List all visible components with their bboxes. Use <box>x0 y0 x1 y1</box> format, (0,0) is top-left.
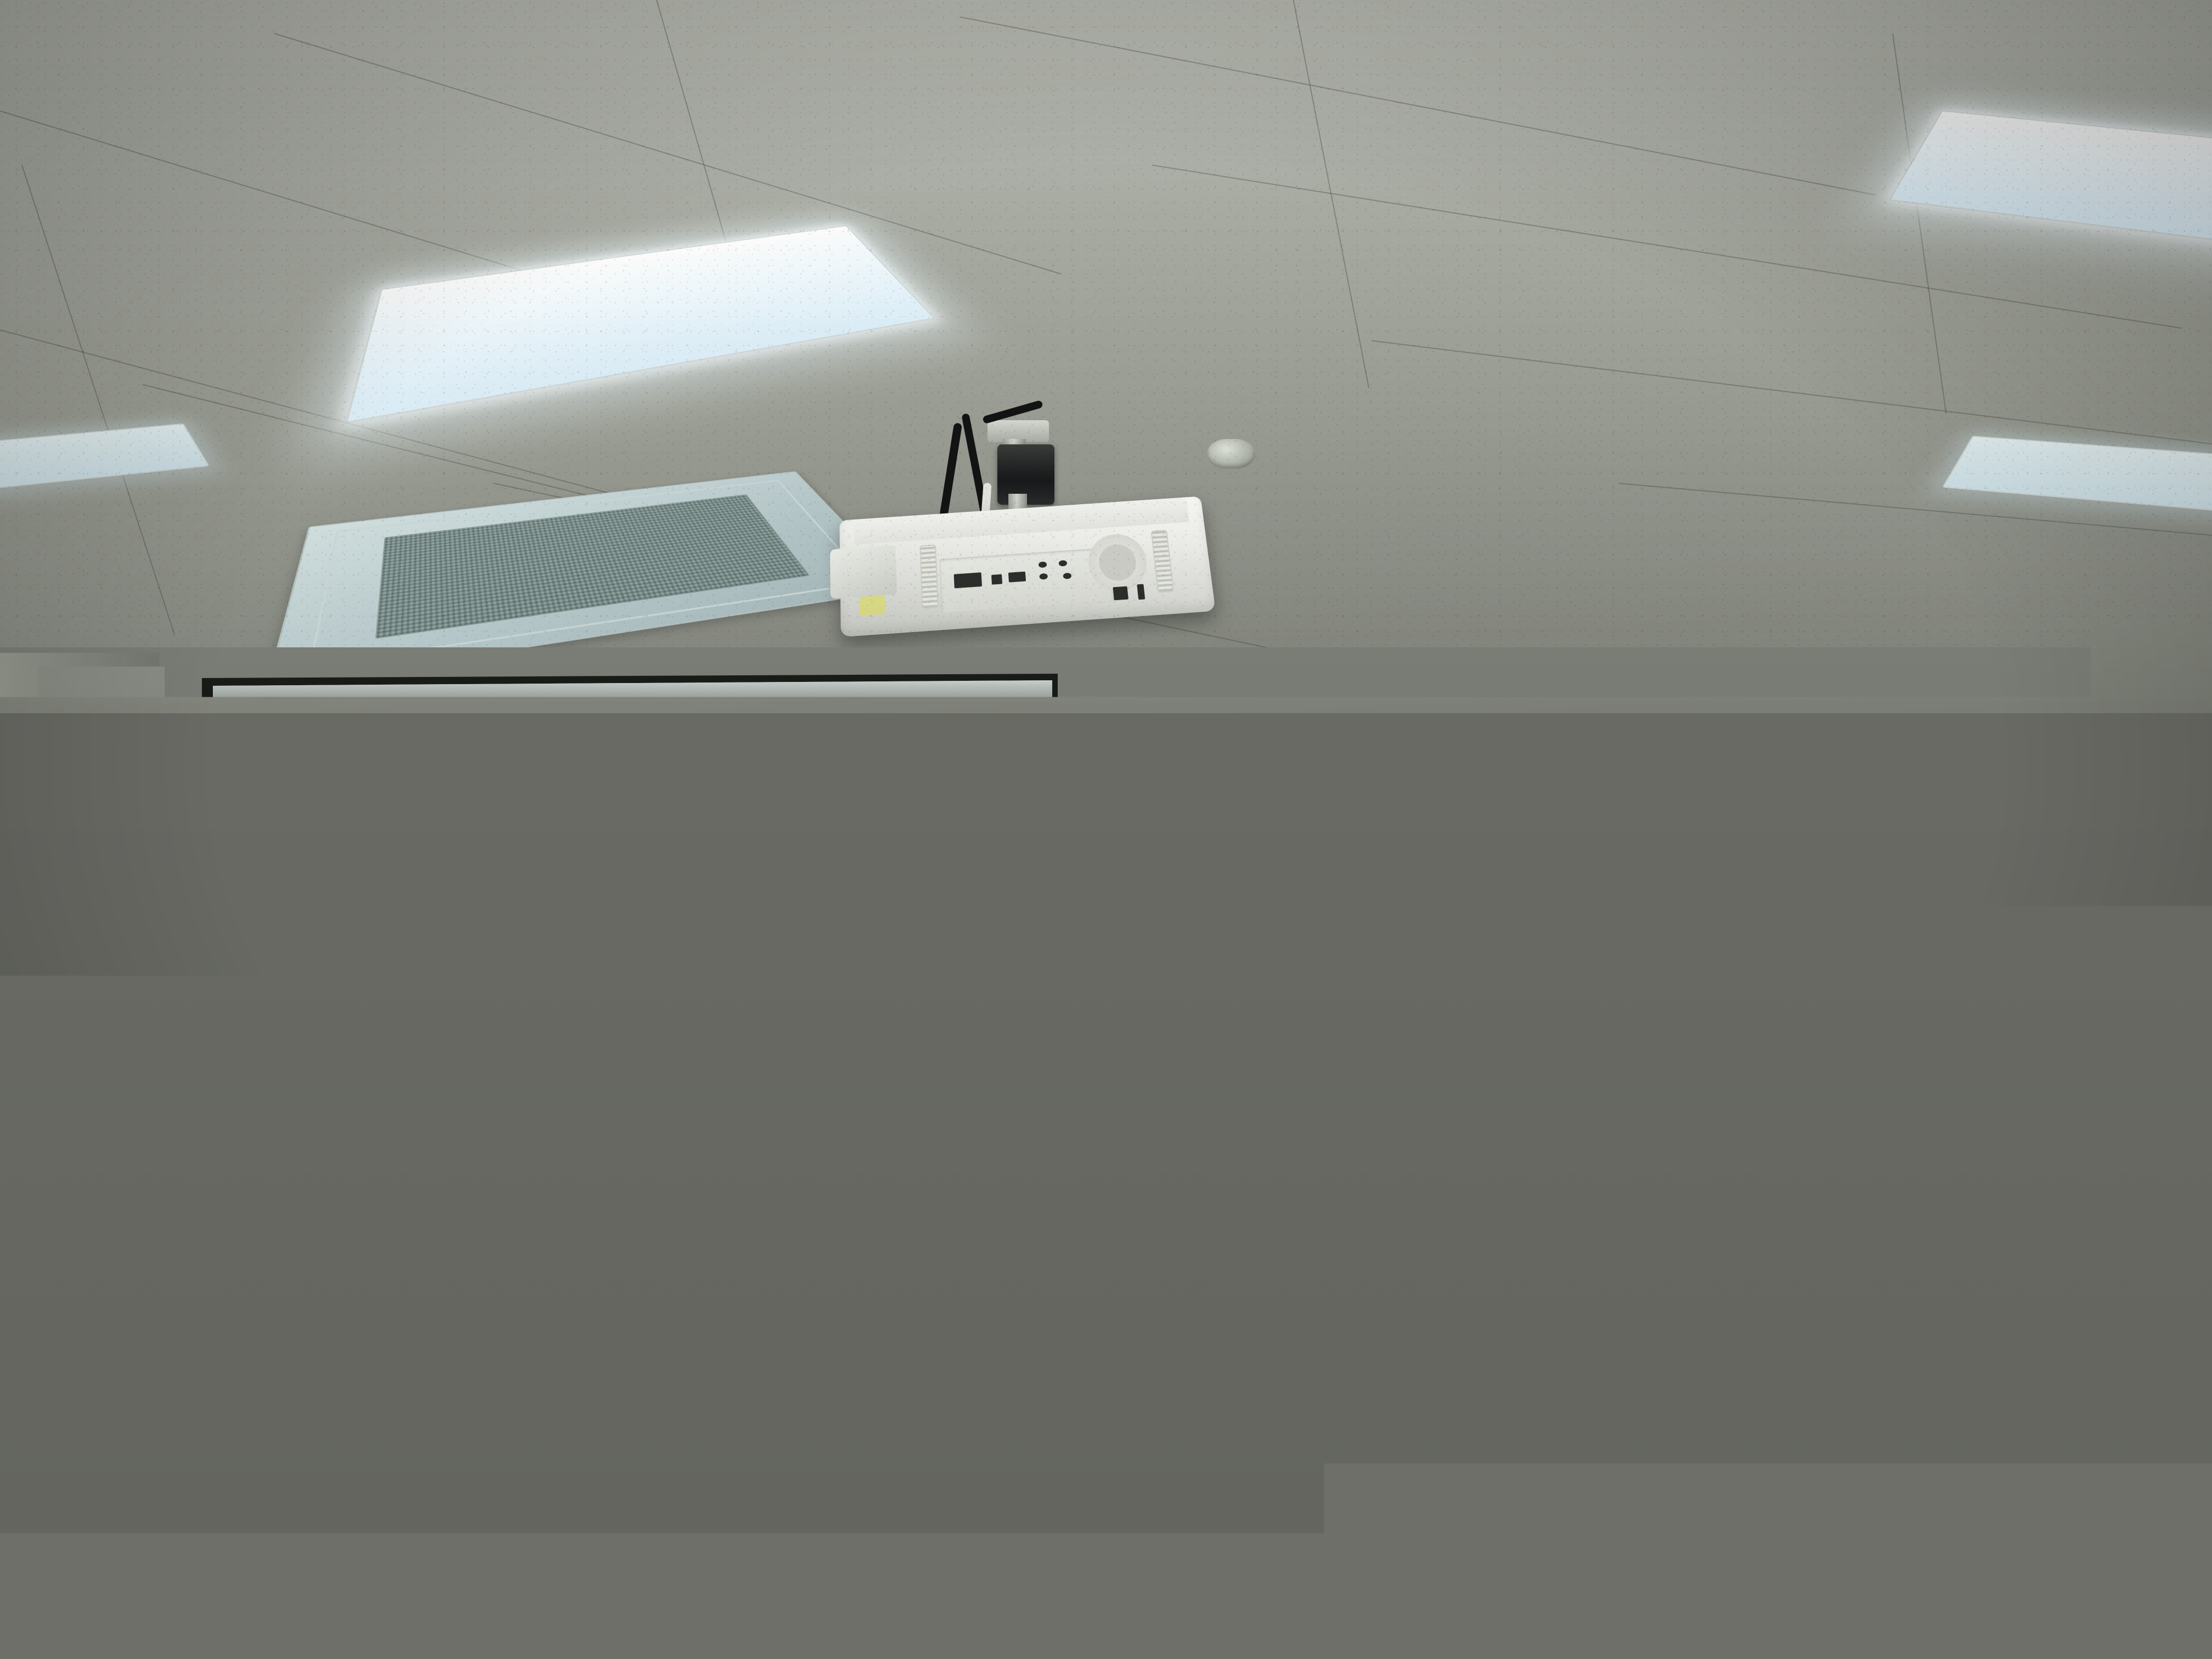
slide-line: 1996년 12월 ㈜동방아그로 입사. [ 마케팅업무, 수출업무, 영업업무… <box>306 1145 1030 1174</box>
slide-tab-badge-line1: 업계 <box>964 831 998 850</box>
desk-leg <box>1871 1377 1880 1564</box>
sprinkler-icon <box>1207 439 1255 469</box>
bullet-icon <box>306 1113 321 1128</box>
chair-label <box>417 1553 458 1567</box>
podium-control-panel[interactable] <box>1970 1278 2002 1498</box>
section-heading: 서동권(徐東權) <box>332 922 502 960</box>
clock-center-pin <box>1338 1091 1344 1097</box>
wall-clock: 12 1 2 3 4 5 6 7 8 9 10 11 KOREA <box>1280 1034 1402 1155</box>
slide-section-career: 주요경력 1996년 12월 ㈜동방아그로 입사. [ 마케팅업무, 수출업무,… <box>306 1102 1030 1233</box>
classroom-photo: 강사 소개 업계 소개 서동권(徐東權) 1970년생 [010-4915-12… <box>0 0 2212 1659</box>
ceiling-light-panel <box>0 424 210 492</box>
pencil-case <box>904 1433 973 1464</box>
ceiling <box>0 0 2212 713</box>
clock-numeral: 4 <box>1369 1105 1375 1118</box>
projector-cable <box>993 528 1034 624</box>
clock-brand-label: KOREA <box>1329 1105 1353 1112</box>
projector-pole-lower <box>1008 494 1027 537</box>
clock-numeral: 12 <box>1335 1053 1347 1065</box>
projector-cable <box>935 422 962 543</box>
sparkle-icon <box>262 1114 279 1130</box>
audience-head <box>154 1278 329 1459</box>
slide-tab-badge: 업계 소개 <box>943 794 1035 889</box>
clock-numeral: 6 <box>1339 1124 1345 1136</box>
section-heading: 주요경력 <box>332 1102 429 1139</box>
clock-second-hand <box>1341 1091 1376 1095</box>
audience-hair <box>538 1262 697 1437</box>
bullet-icon <box>306 933 321 948</box>
podium-status-led <box>1979 1363 1989 1373</box>
ceiling-projector <box>839 496 1216 637</box>
clock-numeral: 5 <box>1357 1119 1363 1131</box>
wall-panel <box>38 667 165 1281</box>
projector-ceiling-plate <box>988 420 1049 442</box>
clock-numeral: 2 <box>1369 1071 1375 1084</box>
ceiling-light-panel <box>345 225 936 424</box>
clock-numeral: 11 <box>1318 1058 1329 1070</box>
bottle-clip <box>857 1508 871 1532</box>
audience-hand <box>702 1453 763 1519</box>
slide-title-bar: 강사 소개 <box>308 822 945 876</box>
projector-pole <box>1003 439 1026 489</box>
slide-line: 1970년생 [010-4915-1257] <box>306 965 1014 998</box>
slide-line: ㈜동방아그로 마케팅본부/지역마케팅팀 [1996년 12월 ~ 현재. 28t… <box>306 1032 1014 1062</box>
clock-numeral: 7 <box>1321 1119 1327 1131</box>
slide-line: 대구대학교 원예학과 졸업(89학번) <box>306 998 1014 1032</box>
clock-numeral: 3 <box>1374 1088 1380 1101</box>
projector-power-cable <box>976 483 991 588</box>
projector-cable <box>961 413 995 549</box>
chair-label <box>686 1289 726 1304</box>
chair-label <box>721 1433 761 1447</box>
clock-numeral: 1 <box>1357 1058 1363 1070</box>
chair-label <box>451 1309 492 1323</box>
microphone-icon <box>1898 1241 1930 1267</box>
clock-numeral: 9 <box>1304 1088 1310 1101</box>
projector-cable <box>982 400 1043 424</box>
glasses-icon <box>1874 959 1907 985</box>
slide-tab-badge-line2: 소개 <box>964 850 998 868</box>
podium <box>1990 1214 2212 1659</box>
projected-slide: 강사 소개 업계 소개 서동권(徐東權) 1970년생 [010-4915-12… <box>236 763 1037 1289</box>
ceiling-light-panel <box>341 561 665 630</box>
clock-numeral: 8 <box>1308 1105 1314 1118</box>
clock-numeral: 10 <box>1305 1071 1317 1084</box>
audience-head <box>1223 1223 1393 1399</box>
clock-face: 12 1 2 3 4 5 6 7 8 9 10 11 KOREA <box>1296 1049 1386 1139</box>
audience-head <box>1542 1322 1706 1487</box>
slide-line: 어학연수 [ 캐나다 알버타주립대학 ESL과정 수료] <box>306 1174 1030 1203</box>
slide-line: 일본어능력시험 [JLPT] 3급 자격증 <box>306 1203 1030 1232</box>
slide-title-bullet-icon <box>326 838 348 860</box>
ceiling-light-panel <box>1888 110 2212 247</box>
slide-section-profile: 서동권(徐東權) 1970년생 [010-4915-1257] 대구대학교 원예… <box>306 922 1014 1062</box>
presenter-hand <box>1798 1273 1860 1325</box>
slide-title: 강사 소개 <box>362 823 509 874</box>
projector-mount-bracket <box>997 444 1054 505</box>
ceiling-light-panel <box>1942 436 2212 513</box>
